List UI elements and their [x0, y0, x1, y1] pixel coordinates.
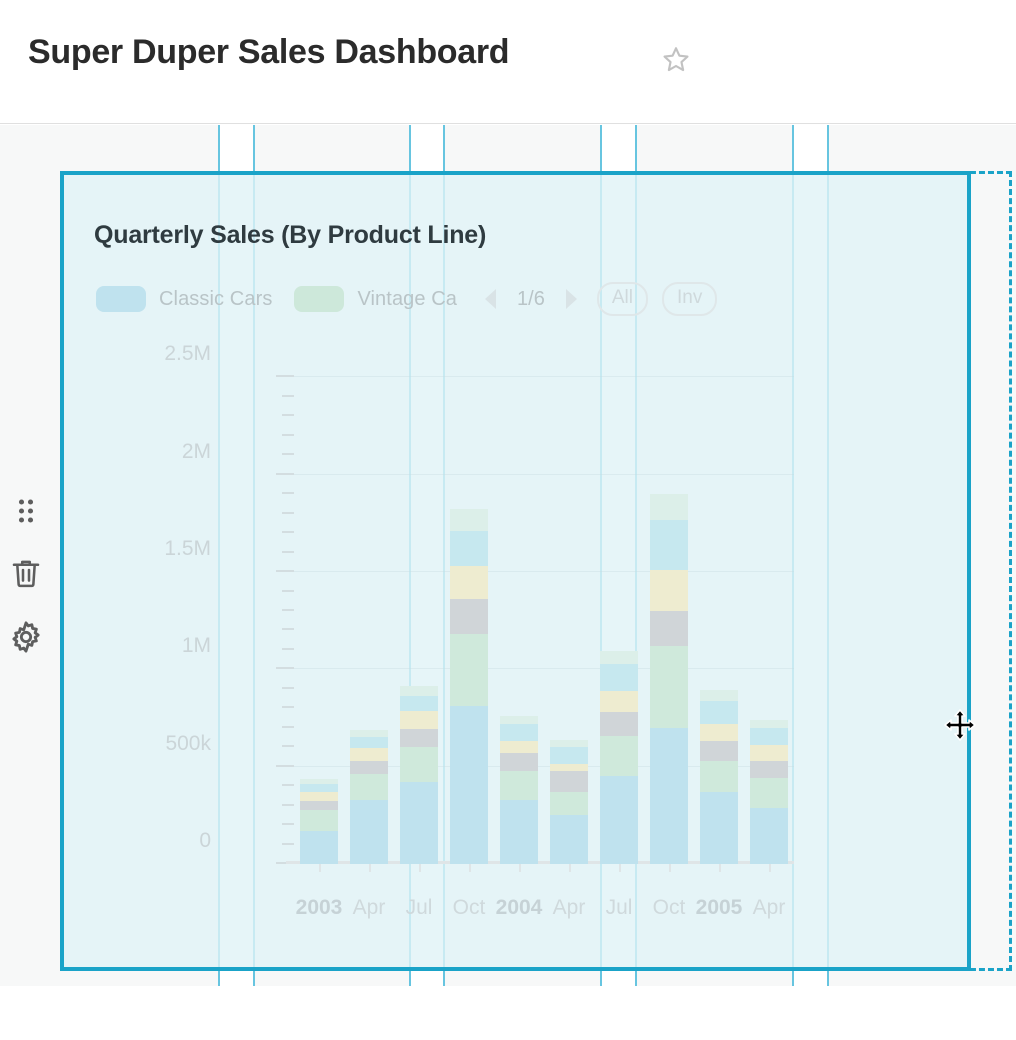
x-axis-tick-label: Apr	[553, 896, 586, 920]
widget-selection-outline[interactable]: Quarterly Sales (By Product Line) Classi…	[60, 171, 1012, 971]
trash-icon[interactable]	[8, 555, 44, 591]
chart-bar-segment[interactable]	[600, 664, 638, 691]
chart-bar-segment[interactable]	[500, 741, 538, 753]
page-title: Super Duper Sales Dashboard	[28, 33, 509, 72]
chart-bar-segment[interactable]	[650, 494, 688, 519]
chart-bar-segment[interactable]	[550, 747, 588, 764]
legend-page-indicator: 1/6	[517, 288, 545, 311]
y-axis-tick-label: 1.5M	[91, 537, 211, 561]
chart-bar-segment[interactable]	[750, 808, 788, 864]
y-axis-tick-label: 1M	[91, 634, 211, 658]
chart-bar-segment[interactable]	[300, 831, 338, 864]
x-axis-tick	[719, 863, 721, 872]
chart-bar-segment[interactable]	[500, 753, 538, 771]
chart-bar-segment[interactable]	[550, 815, 588, 864]
chart-bar-segment[interactable]	[400, 686, 438, 696]
x-axis-tick	[569, 863, 571, 872]
chart-bar[interactable]	[300, 779, 338, 864]
chart-bar-segment[interactable]	[400, 782, 438, 864]
gridline	[294, 376, 794, 377]
chart-bar-segment[interactable]	[600, 712, 638, 735]
chart-bar-segment[interactable]	[700, 690, 738, 701]
y-axis-minor-tick	[282, 414, 294, 416]
y-axis-minor-tick	[282, 823, 294, 825]
chart-plot-area[interactable]: 0500k1M1.5M2M2.5M 2003AprJulOct2004AprJu…	[214, 350, 794, 1040]
x-axis-tick-label: 2003	[296, 896, 343, 920]
x-axis-tick-label: Jul	[606, 896, 633, 920]
chart-bar-segment[interactable]	[500, 771, 538, 800]
chart-bar-segment[interactable]	[750, 728, 788, 746]
chart-bar-segment[interactable]	[450, 509, 488, 531]
chart-bar-segment[interactable]	[350, 730, 388, 737]
y-axis-major-tick	[276, 667, 294, 669]
x-axis-tick-label: Apr	[753, 896, 786, 920]
chart-bar-segment[interactable]	[650, 728, 688, 864]
y-axis-major-tick	[276, 765, 294, 767]
chart-bar-segment[interactable]	[300, 810, 338, 831]
y-axis-minor-tick	[282, 804, 294, 806]
y-axis-minor-tick	[282, 843, 294, 845]
dashboard-canvas[interactable]: Quarterly Sales (By Product Line) Classi…	[0, 125, 1016, 986]
y-axis-minor-tick	[282, 745, 294, 747]
app-header: Super Duper Sales Dashboard	[0, 0, 1016, 124]
chart-bar-segment[interactable]	[350, 748, 388, 761]
y-axis-minor-tick	[282, 395, 294, 397]
chart-bar-segment[interactable]	[750, 778, 788, 807]
chart-bar-segment[interactable]	[750, 745, 788, 761]
y-axis-minor-tick	[282, 492, 294, 494]
star-icon[interactable]	[660, 44, 692, 76]
chart-bar-segment[interactable]	[400, 696, 438, 712]
gridline	[294, 668, 794, 669]
chart-bar[interactable]	[350, 730, 388, 864]
chart-bar-segment[interactable]	[450, 566, 488, 599]
y-axis-minor-tick	[282, 609, 294, 611]
chart-bar[interactable]	[650, 494, 688, 864]
chart-bar-segment[interactable]	[700, 761, 738, 792]
gridline	[294, 474, 794, 475]
chart-bar-segment[interactable]	[500, 800, 538, 864]
chart-bar-segment[interactable]	[550, 764, 588, 771]
chart-bar-segment[interactable]	[550, 740, 588, 747]
chart-widget[interactable]: Quarterly Sales (By Product Line) Classi…	[60, 171, 971, 971]
chart-bar-segment[interactable]	[300, 801, 338, 810]
x-axis-tick-label: Oct	[653, 896, 686, 920]
chart-legend: Classic Cars Vintage Ca 1/6	[96, 282, 776, 316]
y-axis-minor-tick	[282, 687, 294, 689]
x-axis-tick-label: Apr	[353, 896, 386, 920]
chart-title: Quarterly Sales (By Product Line)	[94, 221, 486, 250]
chart-bar-segment[interactable]	[350, 761, 388, 775]
chart-bar-segment[interactable]	[450, 531, 488, 566]
x-axis-tick-label: Oct	[453, 896, 486, 920]
chart-bar-segment[interactable]	[300, 784, 338, 792]
x-axis-tick	[319, 863, 321, 872]
chart-bar-segment[interactable]	[750, 720, 788, 728]
y-axis-minor-tick	[282, 551, 294, 553]
chart-bar-segment[interactable]	[450, 599, 488, 634]
y-axis-major-tick	[276, 375, 294, 377]
drag-handle-icon[interactable]	[8, 493, 44, 529]
x-axis-tick	[519, 863, 521, 872]
chart-bar-segment[interactable]	[700, 724, 738, 742]
gridline	[294, 571, 794, 572]
legend-invert-button[interactable]: Inv	[662, 282, 717, 316]
y-axis-minor-tick	[282, 531, 294, 533]
chart-bar-segment[interactable]	[650, 646, 688, 728]
chart-bar-segment[interactable]	[450, 634, 488, 706]
chart-bar[interactable]	[750, 720, 788, 864]
chart-bar-segment[interactable]	[650, 570, 688, 611]
chart-bar-segment[interactable]	[350, 774, 388, 799]
chart-bar-segment[interactable]	[700, 701, 738, 724]
y-axis-minor-tick	[282, 512, 294, 514]
chart-bar-segment[interactable]	[400, 729, 438, 747]
chart-bar-segment[interactable]	[550, 792, 588, 815]
legend-all-button[interactable]: All	[597, 282, 648, 316]
x-axis-tick-label: 2004	[496, 896, 543, 920]
legend-swatch-icon	[96, 286, 146, 312]
legend-item-vintage-cars[interactable]: Vintage Ca	[294, 286, 457, 312]
y-axis-minor-tick	[282, 784, 294, 786]
chart-bar-segment[interactable]	[650, 611, 688, 646]
x-axis-tick	[619, 863, 621, 872]
chart-bar-segment[interactable]	[400, 747, 438, 782]
x-axis-tick-label: 2005	[696, 896, 743, 920]
x-axis-tick	[419, 863, 421, 872]
y-axis-minor-tick	[282, 453, 294, 455]
chart-bar-segment[interactable]	[400, 711, 438, 729]
chart-bar-segment[interactable]	[350, 800, 388, 864]
y-axis-major-tick	[276, 570, 294, 572]
chart-bar-segment[interactable]	[600, 651, 638, 664]
legend-swatch-icon	[294, 286, 344, 312]
x-axis-tick	[769, 863, 771, 872]
chart-bar[interactable]	[600, 651, 638, 864]
legend-label: Classic Cars	[159, 288, 272, 311]
chart-bar-segment[interactable]	[700, 741, 738, 760]
chevron-left-icon[interactable]	[479, 286, 503, 312]
chart-bar-segment[interactable]	[550, 771, 588, 792]
chart-bar-segment[interactable]	[350, 737, 388, 749]
y-axis-tick-label: 2M	[91, 440, 211, 464]
y-axis-tick-label: 500k	[91, 732, 211, 756]
y-axis-minor-tick	[282, 648, 294, 650]
y-axis-tick-label: 2.5M	[91, 342, 211, 366]
chevron-right-icon[interactable]	[559, 286, 583, 312]
chart-bar[interactable]	[400, 686, 438, 864]
x-axis-tick	[369, 863, 371, 872]
chart-bar-segment[interactable]	[450, 706, 488, 864]
y-axis-minor-tick	[282, 434, 294, 436]
chart-bar[interactable]	[500, 716, 538, 864]
chart-bar-segment[interactable]	[600, 776, 638, 864]
chart-bar-segment[interactable]	[500, 724, 538, 742]
y-axis-minor-tick	[282, 590, 294, 592]
x-axis-tick	[669, 863, 671, 872]
chart-bar[interactable]	[700, 690, 738, 864]
y-axis-tick-label: 0	[91, 829, 211, 853]
chart-bar[interactable]	[550, 740, 588, 864]
chart-bar-segment[interactable]	[300, 792, 338, 801]
chart-bar-segment[interactable]	[300, 779, 338, 784]
y-axis-minor-tick	[282, 726, 294, 728]
chart-bar-segment[interactable]	[650, 520, 688, 571]
chart-bar-segment[interactable]	[750, 761, 788, 779]
y-axis-minor-tick	[282, 628, 294, 630]
x-axis-tick-label: Jul	[406, 896, 433, 920]
y-axis-minor-tick	[282, 706, 294, 708]
y-axis-major-tick	[276, 473, 294, 475]
chart-bar-segment[interactable]	[600, 736, 638, 777]
gear-icon[interactable]	[8, 619, 44, 655]
chart-bar[interactable]	[450, 509, 488, 864]
chart-bar-segment[interactable]	[500, 716, 538, 724]
widget-toolbar	[0, 125, 52, 986]
x-axis-tick	[469, 863, 471, 872]
legend-item-classic-cars[interactable]: Classic Cars	[96, 286, 272, 312]
legend-label: Vintage Ca	[357, 287, 457, 310]
chart-bar-segment[interactable]	[600, 691, 638, 712]
chart-bar-segment[interactable]	[700, 792, 738, 864]
